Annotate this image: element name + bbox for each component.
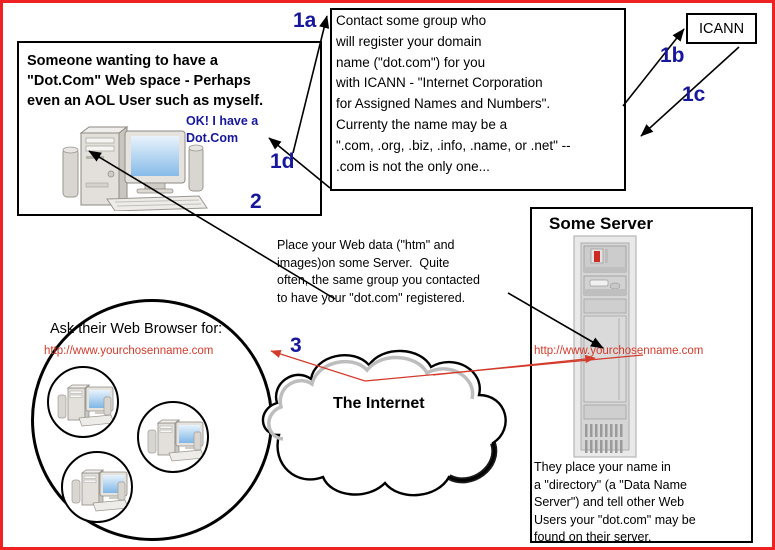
step-label-2: 2 xyxy=(250,190,262,214)
diagram-canvas: Someone wanting to have a "Dot.Com" Web … xyxy=(0,0,775,550)
client-pc-3 xyxy=(61,451,133,523)
user-description: Someone wanting to have a "Dot.Com" Web … xyxy=(27,51,317,111)
client-pc-2 xyxy=(137,401,209,473)
server-url-label: http://www.yourchosenname.com xyxy=(534,345,703,357)
user-speech-bubble: OK! I have a Dot.Com xyxy=(186,113,258,147)
step-label-1b: 1b xyxy=(660,44,685,68)
place-web-data-text: Place your Web data ("htm" and images)on… xyxy=(277,237,547,307)
step-label-3: 3 xyxy=(290,334,302,358)
step-label-1c: 1c xyxy=(682,83,705,107)
step-label-1a: 1a xyxy=(293,9,316,33)
internet-cloud-label: The Internet xyxy=(333,395,425,413)
client-url-label: http://www.yourchosenname.com xyxy=(44,345,213,357)
step-label-1d: 1d xyxy=(270,150,295,174)
server-title: Some Server xyxy=(549,214,653,234)
server-directory-note: They place your name in a "directory" (a… xyxy=(534,459,749,547)
icann-label: ICANN xyxy=(686,13,757,44)
ask-browser-label: Ask their Web Browser for: xyxy=(50,321,222,337)
contact-group-text: Contact some group who will register you… xyxy=(336,11,628,177)
client-pc-1 xyxy=(47,366,119,438)
internet-cloud xyxy=(249,343,529,503)
